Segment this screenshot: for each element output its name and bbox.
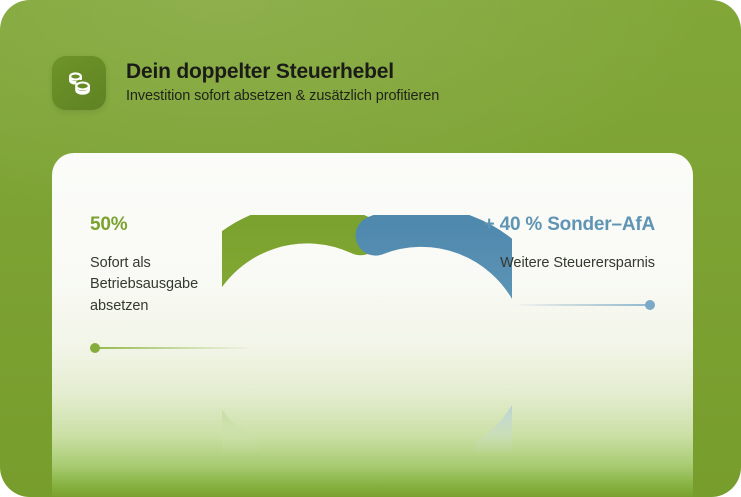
header: Dein doppelter Steuerhebel Investition s… [52, 48, 672, 118]
stat-right-value: + 40 % Sonder–AfA [484, 215, 655, 236]
stat-left-value: 50% [90, 215, 127, 236]
coins-stack-icon [52, 56, 106, 110]
stat-right: + 40 % Sonder–AfA Weitere Steuerersparni… [465, 215, 655, 310]
connector-line [519, 304, 655, 306]
page-subtitle: Investition sofort absetzen & zusätzlich… [126, 88, 439, 105]
connector-dot [645, 300, 655, 310]
connector-dot [90, 343, 100, 353]
stat-right-description: Weitere Steuerersparnis [500, 253, 655, 274]
gauge-segment-green [222, 223, 361, 455]
card-frame: Dein doppelter Steuerhebel Investition s… [0, 0, 741, 497]
header-text: Dein doppelter Steuerhebel Investition s… [126, 60, 439, 105]
page-title: Dein doppelter Steuerhebel [126, 60, 439, 83]
connector-line-right [519, 300, 655, 310]
chart-card: 50% Sofort als Betriebsausgabe absetzen [52, 153, 693, 497]
